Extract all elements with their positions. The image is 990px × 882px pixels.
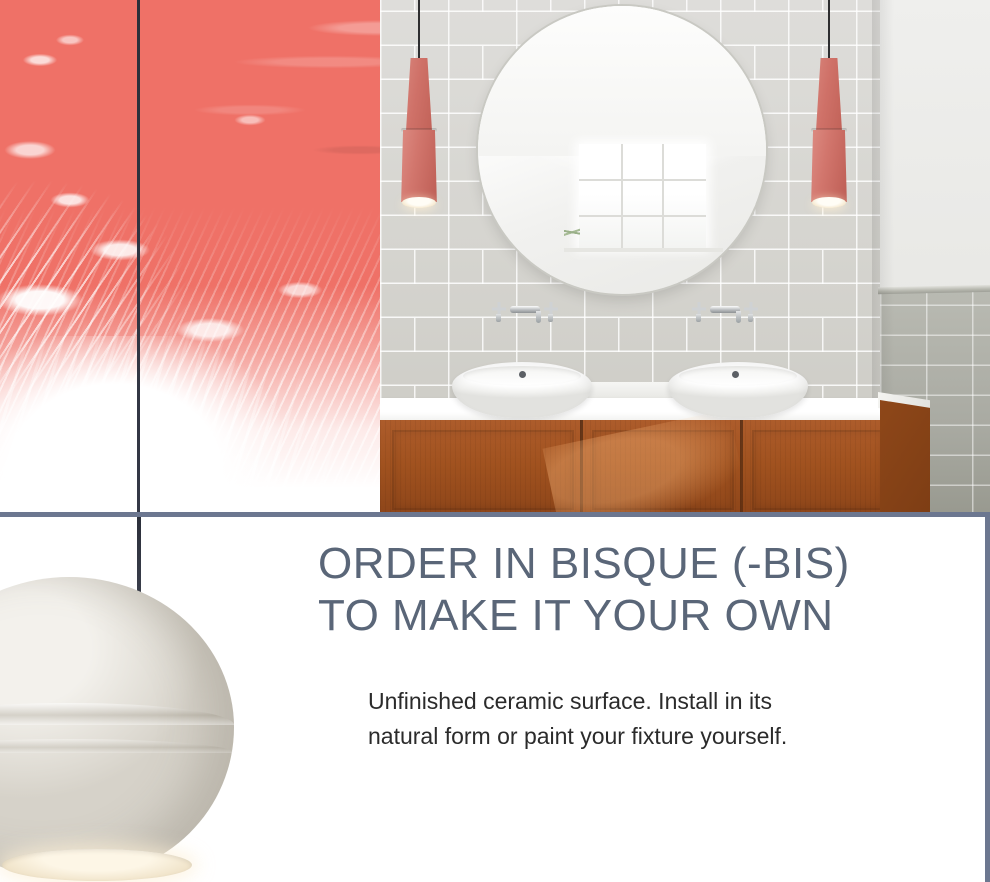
vertical-divider-right (985, 512, 990, 882)
pendant-cord-upper (137, 0, 140, 516)
wall-faucet-right (692, 300, 758, 326)
promo-copy-block: ORDER IN BISQUE (-BIS) TO MAKE IT YOUR O… (318, 538, 958, 754)
paint-white-void (0, 336, 280, 516)
vanity-door-panel-right (752, 430, 884, 510)
headline-line-2: TO MAKE IT YOUR OWN (318, 590, 958, 642)
mirror-plant-reflection (564, 219, 580, 245)
page-title: ORDER IN BISQUE (-BIS) TO MAKE IT YOUR O… (318, 538, 958, 642)
mirror-sill-reflection (564, 248, 722, 252)
coral-pendant-left (398, 58, 440, 206)
body-line-2: natural form or paint your fixture yours… (368, 719, 958, 754)
promo-description: Unfinished ceramic surface. Install in i… (368, 684, 958, 754)
pendant-cord-right (828, 0, 830, 62)
coral-pendant-right (808, 58, 850, 206)
round-mirror (478, 6, 766, 294)
mirror-ceiling-reflection (478, 6, 766, 156)
promo-page: ORDER IN BISQUE (-BIS) TO MAKE IT YOUR O… (0, 0, 990, 882)
body-line-1: Unfinished ceramic surface. Install in i… (368, 684, 958, 719)
pendant-cord-left (418, 0, 420, 62)
bisque-ceramic-pendant (0, 517, 340, 882)
bisque-pendant-diffuser (2, 849, 192, 881)
bisque-shade-globe (0, 577, 234, 877)
wall-faucet-left (492, 300, 558, 326)
sink-drain-right (732, 371, 739, 378)
bisque-pendant-cord (137, 517, 141, 593)
pendant-glow-left (402, 197, 436, 208)
pendant-glow-right (812, 197, 846, 208)
mirror-window-reflection (579, 144, 706, 248)
vanity-side-return (880, 400, 930, 516)
bathroom-interior-photo (380, 0, 990, 516)
headline-line-1: ORDER IN BISQUE (-BIS) (318, 538, 958, 590)
horizontal-divider (0, 512, 990, 517)
sink-drain-left (519, 371, 526, 378)
coral-paint-swatch (0, 0, 380, 516)
paint-impasto-highlights (150, 0, 380, 260)
